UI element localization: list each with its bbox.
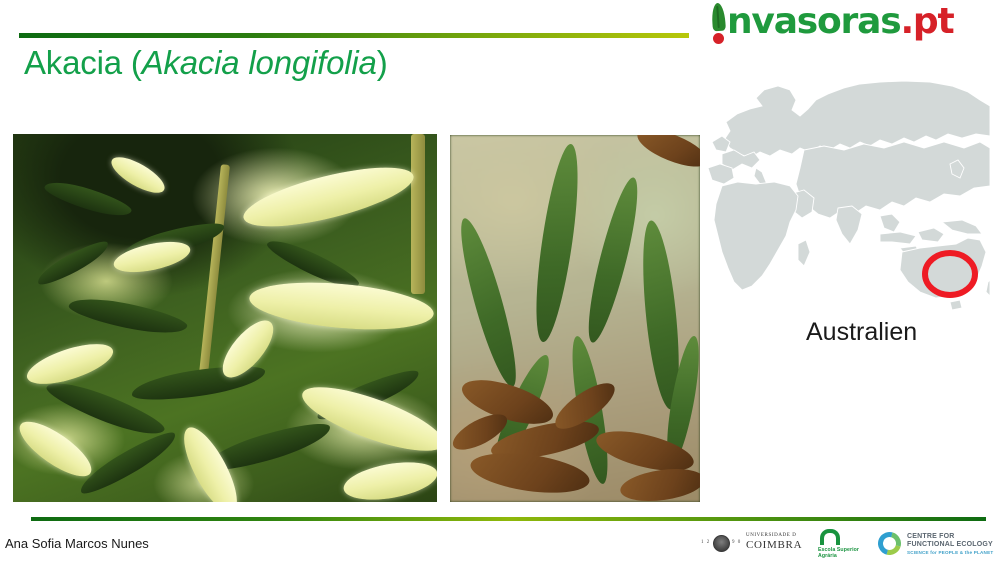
coimbra-line2: COIMBRA — [746, 539, 802, 551]
esac-arch-icon — [820, 529, 840, 545]
leaf-exclamation-dot-icon — [713, 33, 724, 44]
landmasses — [708, 81, 990, 310]
page-title: Akacia (Akacia longifolia) — [24, 44, 387, 82]
coimbra-wordmark: UNIVERSIDADE D COIMBRA — [746, 533, 802, 551]
title-scientific-name: Akacia longifolia — [142, 44, 377, 81]
invasoras-pt-logo[interactable]: nvasoras.pt — [703, 1, 993, 45]
coimbra-seal-icon — [713, 535, 730, 552]
branch-stem-right — [411, 134, 425, 294]
universidade-coimbra-logo: 1 2 9 0 UNIVERSIDADE D COIMBRA — [700, 530, 812, 558]
escola-superior-agraria-logo: Escola Superior Agrária — [818, 528, 876, 561]
world-map-origin — [704, 76, 990, 312]
brand-name-tld: .pt — [900, 1, 953, 42]
cfe-line1: CENTRE FOR — [907, 533, 955, 540]
presentation-slide: nvasoras.pt Akacia (Akacia longifolia) — [0, 0, 1000, 563]
acacia-flowers-photo — [13, 134, 437, 502]
coimbra-year-right: 9 0 — [732, 540, 741, 545]
centre-functional-ecology-logo: CENTRE FOR FUNCTIONAL ECOLOGY SCIENCE fo… — [878, 529, 996, 559]
coimbra-line1: UNIVERSIDADE D — [746, 533, 802, 538]
cfe-ring-icon — [874, 528, 905, 559]
header-divider-rule — [19, 33, 689, 38]
footer-divider-rule — [31, 517, 986, 521]
title-close-paren: ) — [377, 44, 388, 81]
coimbra-year-left: 1 2 — [701, 540, 710, 545]
cfe-line2: FUNCTIONAL ECOLOGY — [907, 541, 993, 548]
brand-wordmark: nvasoras.pt — [727, 0, 954, 44]
esac-line2: Agrária — [818, 553, 837, 559]
leaf-exclamation-icon — [711, 3, 726, 32]
acacia-pods-photo — [450, 135, 700, 502]
footer-logo-group: 1 2 9 0 UNIVERSIDADE D COIMBRA Escola Su… — [700, 528, 995, 561]
origin-caption: Australien — [806, 318, 917, 347]
footer-author-name: Ana Sofia Marcos Nunes — [5, 536, 149, 551]
world-map-svg — [704, 76, 990, 312]
cfe-line3: SCIENCE for PEOPLE & the PLANET — [907, 550, 993, 555]
brand-name-green: nvasoras — [727, 1, 900, 42]
title-common-name: Akacia ( — [24, 44, 142, 81]
